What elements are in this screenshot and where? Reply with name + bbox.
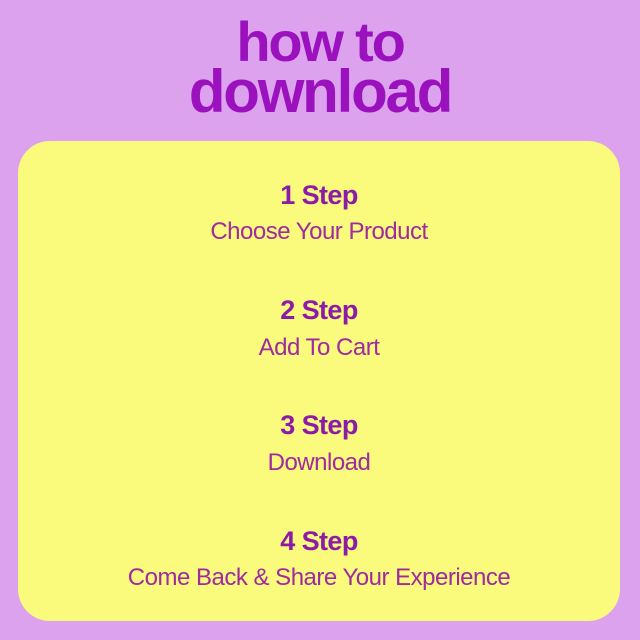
step-title-2: 2 Step — [18, 294, 620, 326]
step-item-2: 2 Step Add To Cart — [18, 294, 620, 362]
page-header: how to download — [0, 0, 640, 141]
step-title-1: 1 Step — [18, 179, 620, 211]
step-description-4: Come Back & Share Your Experience — [18, 564, 620, 593]
step-description-2: Add To Cart — [18, 334, 620, 363]
page-title-line-2: download — [189, 66, 451, 119]
step-item-4: 4 Step Come Back & Share Your Experience — [18, 525, 620, 593]
step-description-3: Download — [18, 449, 620, 478]
step-description-1: Choose Your Product — [18, 218, 620, 247]
steps-card: 1 Step Choose Your Product 2 Step Add To… — [18, 141, 620, 621]
step-item-3: 3 Step Download — [18, 409, 620, 477]
step-title-3: 3 Step — [18, 409, 620, 441]
step-item-1: 1 Step Choose Your Product — [18, 179, 620, 247]
step-title-4: 4 Step — [18, 525, 620, 557]
